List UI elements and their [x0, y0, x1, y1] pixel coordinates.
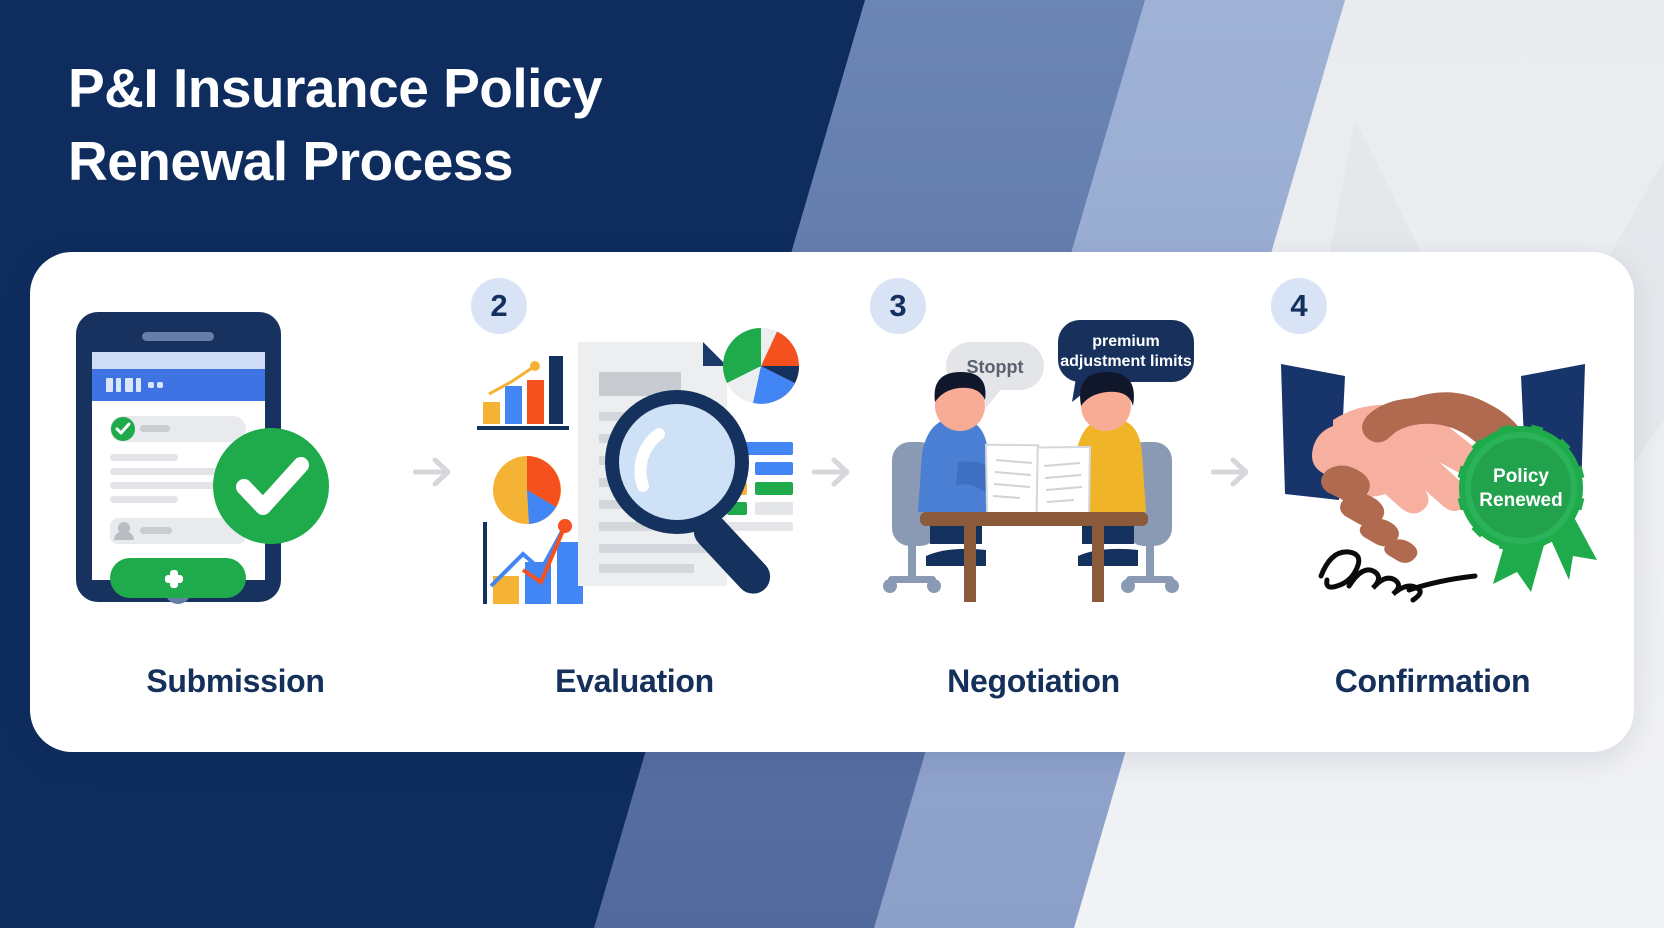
- handshake-seal-signature-icon: Policy Renewed: [1263, 294, 1603, 604]
- svg-text:Stoppt: Stoppt: [966, 357, 1023, 377]
- document-magnifier-charts-icon: [465, 294, 805, 604]
- chevron-right-arrow-icon: [413, 456, 457, 488]
- step-number-2: 2: [471, 278, 527, 334]
- step-confirmation[interactable]: 4: [1255, 252, 1610, 752]
- chevron-right-arrow-icon: [812, 456, 856, 488]
- step-number-4: 4: [1271, 278, 1327, 334]
- process-steps: Submission 2: [30, 252, 1634, 752]
- chevron-right-arrow-icon: [1211, 456, 1255, 488]
- step-submission[interactable]: Submission: [58, 252, 413, 752]
- arrow-3: [1211, 252, 1255, 752]
- process-card: Submission 2: [30, 252, 1634, 752]
- step-label-negotiation: Negotiation: [856, 663, 1211, 700]
- svg-text:premium: premium: [1092, 333, 1160, 350]
- step-evaluation[interactable]: 2: [457, 252, 812, 752]
- step-number-3: 3: [870, 278, 926, 334]
- step-label-evaluation: Evaluation: [457, 663, 812, 700]
- arrow-2: [812, 252, 856, 752]
- svg-text:Policy: Policy: [1493, 466, 1549, 487]
- two-people-table-talk-icon: Stoppt premium adjustment limits: [864, 294, 1204, 604]
- step-label-submission: Submission: [58, 663, 413, 700]
- arrow-1: [413, 252, 457, 752]
- page-title: P&I Insurance Policy Renewal Process: [68, 52, 828, 197]
- step-label-confirmation: Confirmation: [1255, 663, 1610, 700]
- svg-text:adjustment limits: adjustment limits: [1060, 353, 1192, 370]
- svg-text:Renewed: Renewed: [1479, 490, 1562, 511]
- step-negotiation[interactable]: 3 Stoppt premium: [856, 252, 1211, 752]
- tablet-form-check-icon: [66, 294, 406, 604]
- infographic-canvas: P&I Insurance Policy Renewal Process: [0, 0, 1664, 928]
